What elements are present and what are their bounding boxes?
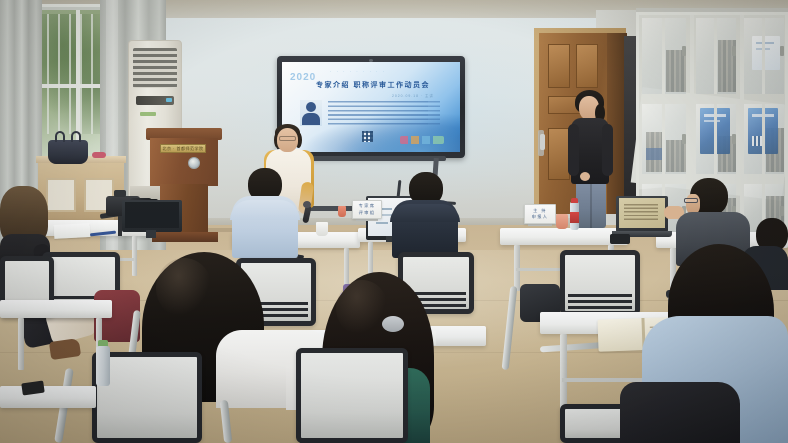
- standing-observer-hand: [580, 172, 590, 181]
- glasses-icon: [684, 198, 698, 203]
- desk: [0, 386, 96, 408]
- desk-leg: [18, 318, 24, 370]
- placard-text: 主 持 申报人: [532, 208, 549, 221]
- desk-leg: [368, 242, 373, 276]
- hair-highlight: [156, 258, 212, 318]
- ac-brand-logo: [140, 112, 156, 116]
- door-panel: [548, 44, 570, 88]
- paper-cup: [338, 206, 346, 217]
- leg-shadow: [590, 182, 592, 228]
- hair-tie: [382, 316, 404, 332]
- sponsor-logo-strip: [400, 136, 444, 144]
- attendee-shoulders: [390, 204, 460, 222]
- hair-highlight: [336, 280, 388, 336]
- podium-plaque: 北京 · 首都师范学院: [160, 144, 206, 153]
- attendee-shoulders: [230, 200, 300, 220]
- monitor-stand: [146, 230, 156, 238]
- ac-vent-louvers: [133, 48, 177, 88]
- door-panel: [548, 128, 570, 180]
- slide-body-text: [328, 101, 428, 127]
- paper-sheet: [54, 223, 91, 239]
- placard-text: 专家席 评审组: [359, 203, 376, 216]
- microphone-head: [303, 201, 311, 208]
- water-bottle: [96, 346, 110, 386]
- ac-status-led: [166, 98, 172, 102]
- door-handle[interactable]: [540, 134, 545, 150]
- camera-flash-mount: [114, 190, 126, 197]
- portrait-head: [306, 102, 316, 112]
- name-placard-right: 主 持 申报人: [524, 204, 556, 224]
- laptop-screen-text: [624, 204, 658, 222]
- portrait-torso: [302, 113, 320, 125]
- monitor-left-screen[interactable]: [125, 202, 179, 228]
- display-mount-bar: [300, 156, 446, 161]
- desk: [500, 228, 628, 245]
- front-row-blue-bag: [620, 382, 740, 443]
- qr-code-icon: [362, 131, 373, 142]
- bottle-cap: [571, 198, 578, 203]
- slide-year-badge: 2020: [290, 72, 316, 83]
- paper-cup: [556, 214, 568, 229]
- slide-kicker-text: · · · · · · · · ·: [330, 70, 386, 74]
- desk-leg: [132, 236, 137, 276]
- standing-observer-arm: [568, 124, 579, 176]
- phone[interactable]: [610, 234, 630, 244]
- institution-emblem-icon: [188, 157, 200, 169]
- presenter-glasses-icon: [279, 136, 296, 141]
- credenza-cubby: [46, 178, 76, 212]
- placard-stand: [356, 219, 378, 221]
- paper-cup: [316, 222, 328, 236]
- standing-observer-arm: [602, 124, 613, 176]
- attendee-right-face: [686, 194, 700, 214]
- desk-leg: [344, 248, 349, 286]
- screenshot-root: 北京 · 首都师范学院 2020 · · · · · · · · · 专家介绍 …: [0, 0, 788, 443]
- desk: [0, 300, 112, 318]
- handbag: [48, 140, 88, 164]
- desk-leg: [560, 334, 567, 410]
- chair[interactable]: [296, 348, 408, 443]
- door-panel: [576, 44, 598, 88]
- small-item: [92, 152, 106, 158]
- screen-text-line: [376, 222, 388, 224]
- bottle-label: [570, 212, 579, 223]
- handbag-handle: [55, 131, 65, 142]
- name-placard-center: 专家席 评审组: [352, 200, 382, 219]
- slide-title: 专家介绍 职称评审工作动员会: [316, 80, 430, 90]
- podium-base: [152, 232, 218, 242]
- handbag-handle: [71, 131, 81, 142]
- placard-stand: [528, 224, 552, 226]
- chair-backrest-grill: [568, 294, 632, 310]
- podium-plaque-text: 北京 · 首都师范学院: [162, 146, 203, 152]
- slide-subtitle: 2020.09.18 · 主讲: [392, 93, 434, 98]
